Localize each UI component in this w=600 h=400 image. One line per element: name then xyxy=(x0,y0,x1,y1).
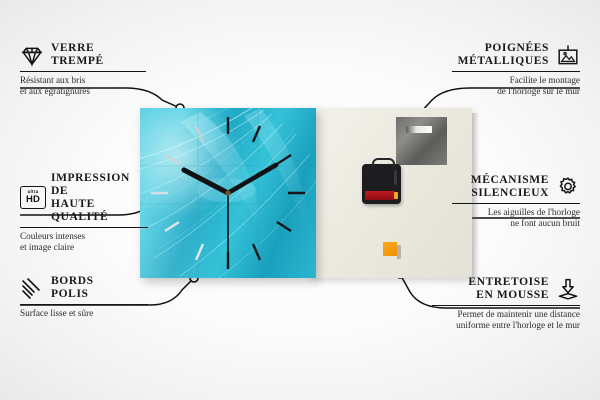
infographic-canvas: VERRE TREMPÉ Résistant aux bris et aux é… xyxy=(0,0,600,400)
feature-subtitle: Résistant aux bris et aux égratignures xyxy=(20,75,146,97)
feature-sub-line1: Résistant aux bris xyxy=(20,75,85,85)
feature-sub-line1: Les aiguilles de l'horloge xyxy=(488,207,580,217)
feature-title-line1: MÉCANISME xyxy=(471,174,549,186)
feature-title-line2: HAUTE QUALITÉ xyxy=(51,198,108,223)
hanger-plate-part xyxy=(396,117,447,165)
feature-sub-line2: ne font aucun bruit xyxy=(510,218,580,228)
feature-title-line2: TREMPÉ xyxy=(51,55,104,67)
feature-subtitle: Surface lisse et sûre xyxy=(20,308,148,319)
movement-hanger-loop xyxy=(372,158,395,169)
feature-title: VERRE TREMPÉ xyxy=(51,42,104,68)
gear-icon xyxy=(556,175,580,199)
minute-hand xyxy=(228,165,276,193)
clock-face xyxy=(140,108,316,278)
feature-sub-line2: et image claire xyxy=(20,242,74,252)
feature-title-line2: POLIS xyxy=(51,288,89,300)
feature-sub-line1: Facilite le montage xyxy=(510,75,580,85)
ultra-hd-icon: ultra HD xyxy=(20,186,44,210)
foam-spacer-part xyxy=(383,242,397,256)
feature-header: ultra HD IMPRESSION DE HAUTE QUALITÉ xyxy=(20,172,148,224)
arrow-down-pad-icon xyxy=(556,277,580,301)
feature-title-line2: EN MOUSSE xyxy=(476,289,549,301)
feature-sub-line2: et aux égratignures xyxy=(20,86,90,96)
feature-title-line1: VERRE xyxy=(51,42,94,54)
feature-header: ENTRETOISE EN MOUSSE xyxy=(432,276,580,302)
feature-verre-trempe: VERRE TREMPÉ Résistant aux bris et aux é… xyxy=(20,42,146,97)
feature-divider xyxy=(452,203,580,204)
feature-title: IMPRESSION DE HAUTE QUALITÉ xyxy=(51,172,148,224)
diagonal-lines-icon xyxy=(20,276,44,300)
feature-title: BORDS POLIS xyxy=(51,275,94,301)
feature-header: BORDS POLIS xyxy=(20,275,148,301)
feature-sub-line2: de l'horloge sur le mur xyxy=(497,86,580,96)
feature-title-line1: IMPRESSION DE xyxy=(51,172,130,197)
clock-back-panel xyxy=(310,108,472,278)
feature-title: POIGNÉES MÉTALLIQUES xyxy=(458,42,549,68)
feature-subtitle: Facilite le montage de l'horloge sur le … xyxy=(452,75,580,97)
diamond-icon xyxy=(20,43,44,67)
feature-sub-line1: Surface lisse et sûre xyxy=(20,308,93,318)
feature-title-line1: POIGNÉES xyxy=(485,42,549,54)
movement-vent xyxy=(394,170,397,185)
feature-impression-haute-qualite: ultra HD IMPRESSION DE HAUTE QUALITÉ Cou… xyxy=(20,172,148,253)
feature-subtitle: Permet de maintenir une distance uniform… xyxy=(432,309,580,331)
feature-sub-line2: uniforme entre l'horloge et le mur xyxy=(456,320,580,330)
feature-title-line2: MÉTALLIQUES xyxy=(458,55,549,67)
feature-bords-polis: BORDS POLIS Surface lisse et sûre xyxy=(20,275,148,319)
feature-title-line1: ENTRETOISE xyxy=(468,276,549,288)
battery-compartment xyxy=(365,191,395,200)
feature-divider xyxy=(20,71,146,72)
feature-subtitle: Les aiguilles de l'horloge ne font aucun… xyxy=(452,207,580,229)
clock-hands xyxy=(140,108,316,278)
feature-title: ENTRETOISE EN MOUSSE xyxy=(468,276,549,302)
feature-header: VERRE TREMPÉ xyxy=(20,42,146,68)
feature-header: POIGNÉES MÉTALLIQUES xyxy=(452,42,580,68)
feature-sub-line1: Permet de maintenir une distance xyxy=(458,309,580,319)
product-image xyxy=(140,108,472,280)
ultra-hd-bottom-text: HD xyxy=(26,195,40,205)
feature-title-line1: BORDS xyxy=(51,275,94,287)
feature-divider xyxy=(20,304,148,305)
feature-sub-line1: Couleurs intenses xyxy=(20,231,85,241)
feature-divider xyxy=(20,227,148,228)
picture-frame-icon xyxy=(556,43,580,67)
clock-movement-part xyxy=(362,164,401,204)
feature-poignees-metalliques: POIGNÉES MÉTALLIQUES Facilite le montage… xyxy=(452,42,580,97)
feature-title-line2: SILENCIEUX xyxy=(471,187,549,199)
feature-header: MÉCANISME SILENCIEUX xyxy=(452,174,580,200)
hanger-slot xyxy=(406,126,432,133)
feature-mecanisme-silencieux: MÉCANISME SILENCIEUX Les aiguilles de l'… xyxy=(452,174,580,229)
hour-hand xyxy=(184,170,228,193)
feature-divider xyxy=(452,71,580,72)
feature-subtitle: Couleurs intenses et image claire xyxy=(20,231,148,253)
feature-divider xyxy=(432,305,580,306)
feature-entretoise-en-mousse: ENTRETOISE EN MOUSSE Permet de maintenir… xyxy=(432,276,580,331)
feature-title: MÉCANISME SILENCIEUX xyxy=(471,174,549,200)
